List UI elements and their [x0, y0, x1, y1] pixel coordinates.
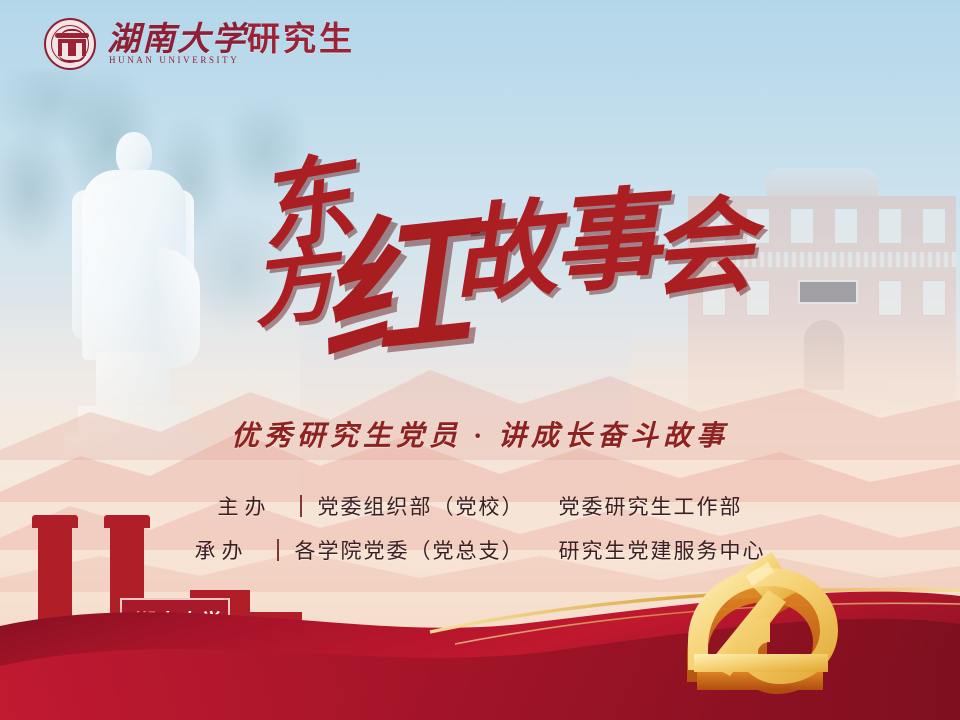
poster-canvas: 湖南大学研究生 HUNAN UNIVERSITY 东 方 红 故 事 会 优秀研…	[0, 0, 960, 720]
brand-name-cn: 湖南大学研究生	[107, 23, 355, 58]
title-char-gu: 故	[448, 198, 561, 311]
crest-gate	[58, 39, 86, 56]
hammer-and-sickle-icon	[660, 548, 890, 720]
main-title: 东 方 红 故 事 会	[0, 140, 960, 370]
brand-name-university: 湖南大学	[107, 22, 247, 58]
brand-wordmark: 湖南大学研究生 HUNAN UNIVERSITY	[107, 23, 355, 66]
brand-name-en: HUNAN UNIVERSITY	[109, 55, 355, 65]
title-char-hui: 会	[646, 194, 757, 305]
crest-arc-top	[60, 29, 84, 39]
crest-roofline	[55, 33, 89, 38]
hunan-university-crest-icon	[44, 18, 96, 70]
subtitle: 优秀研究生党员 · 讲成长奋斗故事	[0, 414, 960, 454]
organizer-host-value-2: 党委研究生工作部	[559, 491, 743, 521]
crest-arc-bottom	[58, 52, 86, 62]
brand-name-graduate: 研究生	[247, 22, 355, 58]
organizer-host-value-1: 党委组织部（党校）	[318, 491, 525, 521]
brand-header: 湖南大学研究生 HUNAN UNIVERSITY	[44, 18, 355, 70]
